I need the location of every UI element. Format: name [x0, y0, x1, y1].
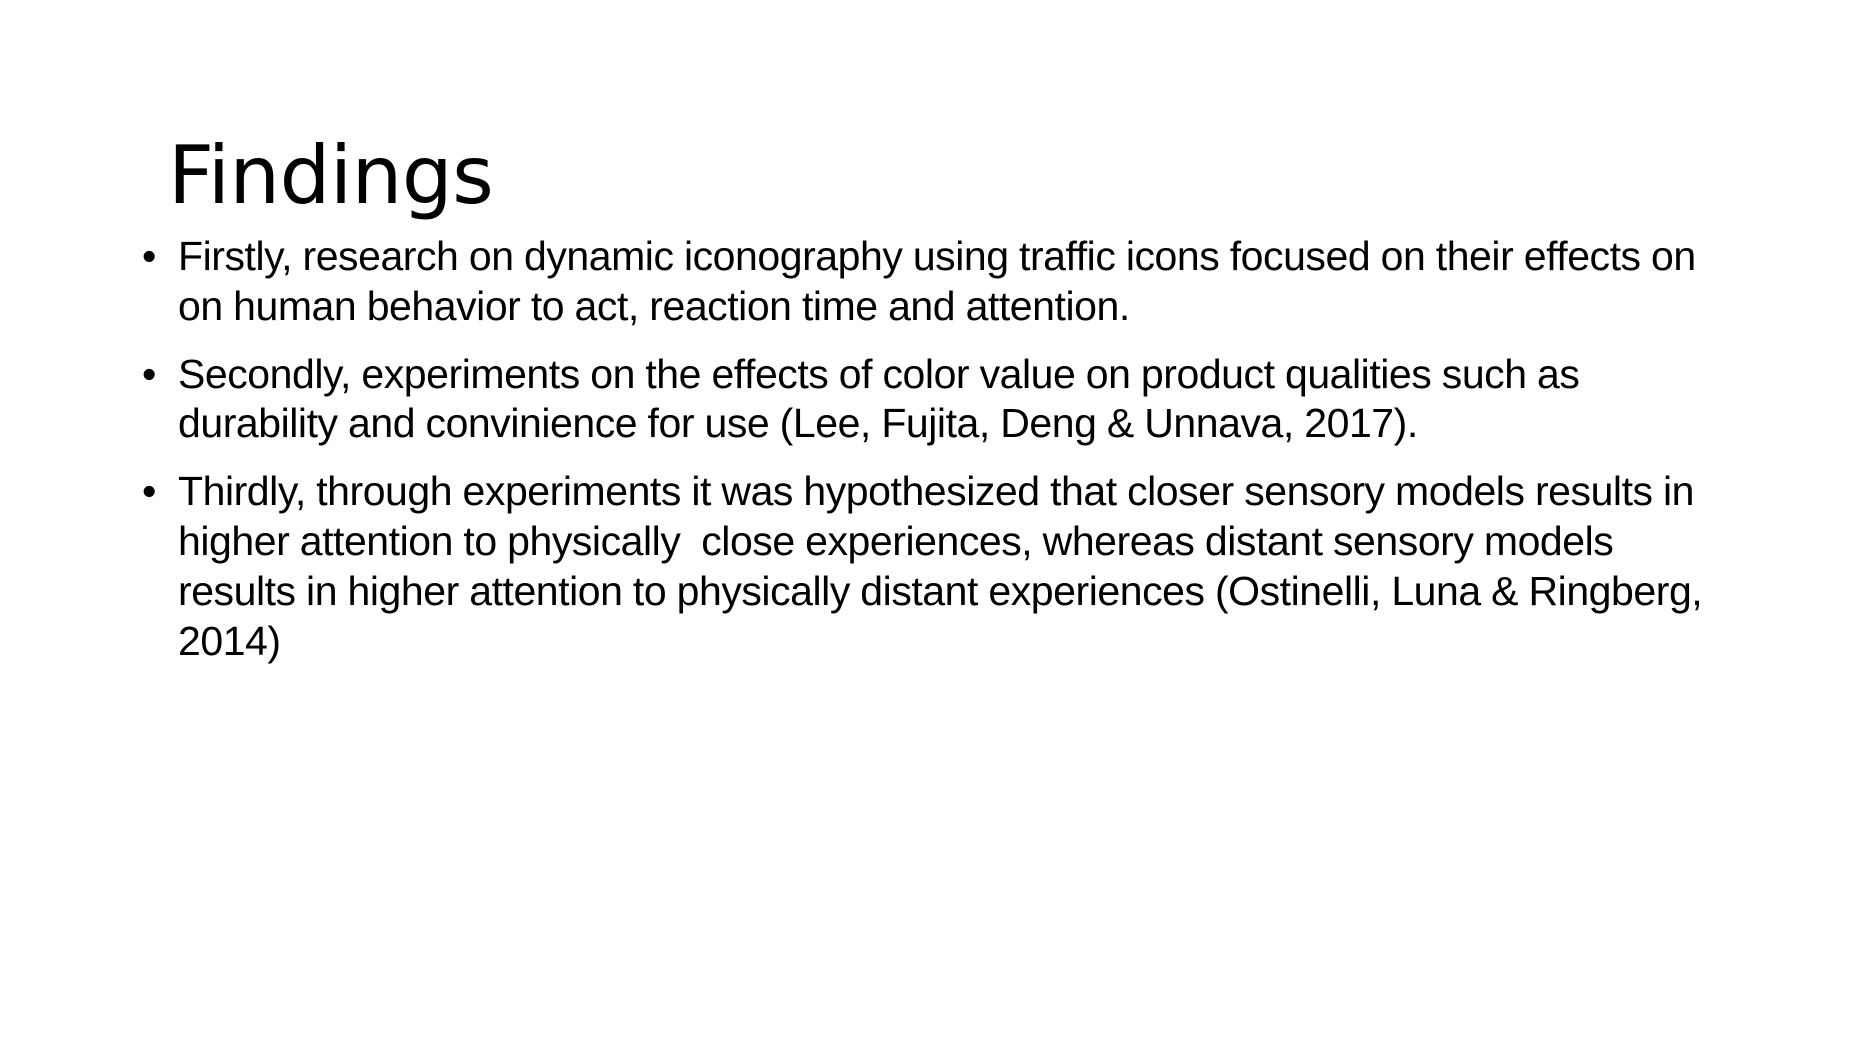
bullet-list-item: • Firstly, research on dynamic iconograp… [140, 232, 1720, 332]
bullet-point-icon: • [142, 232, 168, 282]
bullet-item-text: Secondly, experiments on the effects of … [178, 350, 1720, 450]
bullet-point-icon: • [142, 467, 168, 517]
slide-title: Findings [168, 136, 1708, 216]
presentation-slide: Findings • Firstly, research on dynamic … [0, 0, 1867, 1050]
slide-body-placeholder: • Firstly, research on dynamic iconograp… [140, 232, 1720, 667]
bullet-item-text: Firstly, research on dynamic iconography… [178, 232, 1720, 332]
bullet-point-icon: • [142, 350, 168, 400]
bullet-list-item: • Thirdly, through experiments it was hy… [140, 467, 1720, 666]
bullet-item-text: Thirdly, through experiments it was hypo… [178, 467, 1720, 666]
bullet-list-item: • Secondly, experiments on the effects o… [140, 350, 1720, 450]
